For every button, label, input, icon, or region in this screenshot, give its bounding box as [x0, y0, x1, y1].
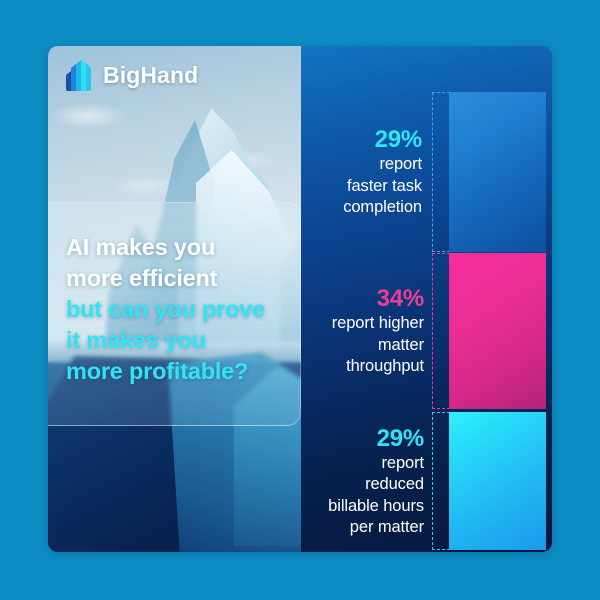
stats-panel: 29% report faster task completion 34% re…	[301, 46, 552, 552]
bighand-bars-logo-icon	[64, 58, 94, 92]
infographic-card: BigHand AI makes you more efficient but …	[48, 46, 552, 552]
stat-label-3-line-1: report	[381, 453, 424, 475]
headline-line-3: but can you prove	[66, 294, 285, 325]
headline-line-2: more efficient	[66, 263, 285, 294]
brand-logo[interactable]: BigHand	[64, 58, 198, 92]
stat-label-1-line-1: report	[379, 154, 422, 176]
hero-image-panel: BigHand AI makes you more efficient but …	[48, 46, 301, 552]
stat-percent-1: 29%	[375, 125, 422, 154]
stat-label-2-line-3: throughput	[346, 356, 424, 378]
stat-text-3: 29% report reduced billable hours per ma…	[301, 412, 438, 550]
stat-label-3-line-2: reduced	[365, 474, 424, 496]
stat-text-1: 29% report faster task completion	[301, 92, 438, 252]
stat-percent-2: 34%	[377, 284, 424, 313]
headline-line-4: it makes you	[66, 325, 285, 356]
stat-row-3: 29% report reduced billable hours per ma…	[301, 412, 552, 550]
stat-label-1-line-2: faster task	[347, 176, 422, 198]
stat-label-3-line-4: per matter	[350, 517, 424, 539]
headline-line-1: AI makes you	[66, 232, 285, 263]
stat-text-2: 34% report higher matter throughput	[301, 253, 438, 409]
brand-name: BigHand	[103, 62, 198, 89]
headline-line-5: more profitable?	[66, 356, 285, 387]
stat-label-1-line-3: completion	[343, 197, 422, 219]
stat-row-2: 34% report higher matter throughput	[301, 253, 552, 409]
hero-headline: AI makes you more efficient but can you …	[48, 232, 301, 387]
stat-label-2-line-2: matter	[378, 335, 424, 357]
stat-row-1: 29% report faster task completion	[301, 92, 552, 252]
stat-label-2-line-1: report higher	[332, 313, 424, 335]
stat-percent-3: 29%	[377, 424, 424, 453]
stat-label-3-line-3: billable hours	[328, 496, 424, 518]
